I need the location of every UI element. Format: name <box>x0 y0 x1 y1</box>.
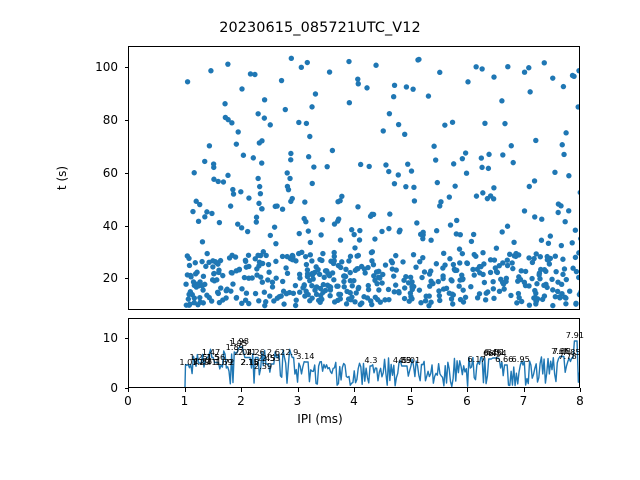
histogram-x-tick-label: 7 <box>504 394 544 408</box>
scatter-y-tick-mark <box>125 226 129 227</box>
histogram-x-tick-label: 4 <box>334 394 374 408</box>
figure-title: 20230615_085721UTC_V12 <box>0 20 640 36</box>
histogram-x-tick-mark <box>354 388 355 392</box>
histogram-x-tick-mark <box>524 388 525 392</box>
histogram-x-tick-label: 5 <box>391 394 431 408</box>
histogram-x-tick-label: 2 <box>221 394 261 408</box>
histogram-x-tick-mark <box>298 388 299 392</box>
histogram-x-axis-label: IPI (ms) <box>0 412 640 426</box>
scatter-plot-axes <box>128 46 580 310</box>
histogram-peak-label: 4.3 <box>364 356 377 364</box>
histogram-peak-label: 2.62 <box>267 348 285 356</box>
scatter-y-tick-mark <box>125 278 129 279</box>
histogram-x-tick-label: 8 <box>560 394 600 408</box>
scatter-y-tick-label: 100 <box>72 60 118 74</box>
histogram-x-tick-label: 0 <box>108 394 148 408</box>
matplotlib-figure: 20230615_085721UTC_V12 20406080100 t (s)… <box>0 0 640 480</box>
histogram-y-tick-label: 0 <box>72 381 118 395</box>
scatter-y-tick-label: 60 <box>72 166 118 180</box>
scatter-y-tick-label: 20 <box>72 271 118 285</box>
histogram-peak-label: 3.14 <box>296 352 314 360</box>
histogram-x-tick-label: 3 <box>278 394 318 408</box>
histogram-y-tick-mark <box>125 338 129 339</box>
histogram-peak-label: 7.91 <box>566 331 584 339</box>
scatter-points-layer <box>129 47 580 310</box>
histogram-peak-label: 1.98 <box>231 337 249 345</box>
histogram-peak-label: 7.85 <box>562 348 580 356</box>
scatter-y-tick-label: 80 <box>72 113 118 127</box>
histogram-peak-label: 1.72 <box>216 358 234 366</box>
scatter-y-tick-mark <box>125 67 129 68</box>
histogram-x-tick-mark <box>241 388 242 392</box>
scatter-y-tick-label: 40 <box>72 219 118 233</box>
scatter-y-tick-mark <box>125 120 129 121</box>
histogram-x-tick-mark <box>580 388 581 392</box>
histogram-x-tick-mark <box>467 388 468 392</box>
scatter-y-axis-label: t (s) <box>55 166 69 190</box>
histogram-peak-label: 6.95 <box>512 355 530 363</box>
histogram-x-tick-mark <box>128 388 129 392</box>
histogram-peak-label: 5.01 <box>402 356 420 364</box>
histogram-x-tick-label: 6 <box>447 394 487 408</box>
histogram-x-tick-mark <box>411 388 412 392</box>
histogram-y-tick-label: 10 <box>72 331 118 345</box>
scatter-y-tick-mark <box>125 173 129 174</box>
histogram-x-tick-label: 1 <box>165 394 205 408</box>
histogram-x-tick-mark <box>185 388 186 392</box>
